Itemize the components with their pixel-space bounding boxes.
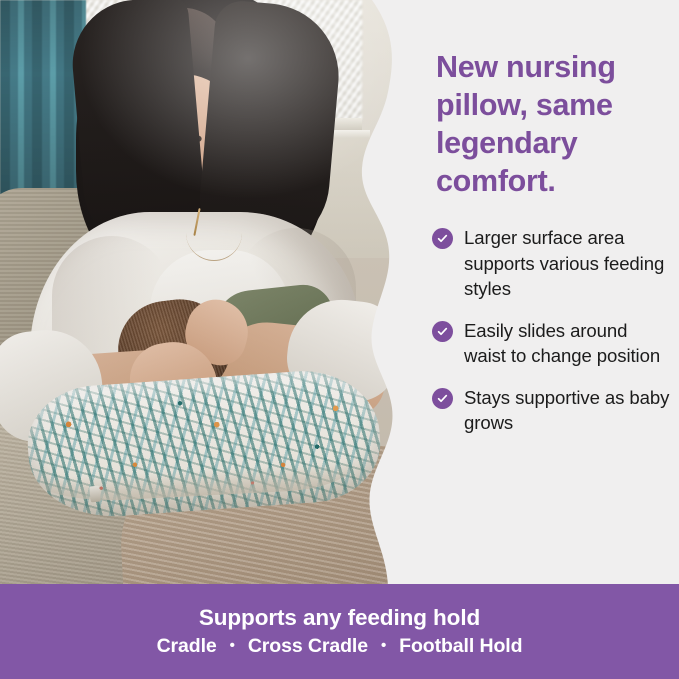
list-item: Larger surface area supports various fee… bbox=[432, 225, 672, 302]
check-circle-icon bbox=[432, 388, 453, 409]
page-title: New nursing pillow, same legendary comfo… bbox=[436, 48, 664, 200]
feature-text: Easily slides around waist to change pos… bbox=[464, 318, 672, 369]
product-feature-graphic: New nursing pillow, same legendary comfo… bbox=[0, 0, 679, 679]
pillow-zipper-pull bbox=[89, 486, 101, 503]
feeding-hold-cradle: Cradle bbox=[157, 635, 217, 658]
feeding-hold-cross-cradle: Cross Cradle bbox=[248, 635, 368, 658]
check-circle-icon bbox=[432, 228, 453, 249]
photo-scene bbox=[0, 0, 400, 586]
teal-curtain bbox=[0, 0, 86, 210]
separator-dot: • bbox=[381, 638, 386, 653]
banner-title: Supports any feeding hold bbox=[199, 605, 480, 631]
feeding-hold-banner: Supports any feeding hold Cradle • Cross… bbox=[0, 584, 679, 679]
copy-panel: New nursing pillow, same legendary comfo… bbox=[400, 0, 679, 586]
check-circle-icon bbox=[432, 321, 453, 342]
list-item: Easily slides around waist to change pos… bbox=[432, 318, 672, 369]
separator-dot: • bbox=[230, 638, 235, 653]
feeding-hold-list: Cradle • Cross Cradle • Football Hold bbox=[157, 635, 523, 658]
nursing-pillow bbox=[24, 366, 384, 522]
list-item: Stays supportive as baby grows bbox=[432, 385, 672, 436]
feature-list: Larger surface area supports various fee… bbox=[432, 225, 672, 452]
feature-text: Larger surface area supports various fee… bbox=[464, 225, 672, 302]
feeding-hold-football: Football Hold bbox=[399, 635, 522, 658]
feature-text: Stays supportive as baby grows bbox=[464, 385, 672, 436]
lifestyle-photo bbox=[0, 0, 400, 586]
